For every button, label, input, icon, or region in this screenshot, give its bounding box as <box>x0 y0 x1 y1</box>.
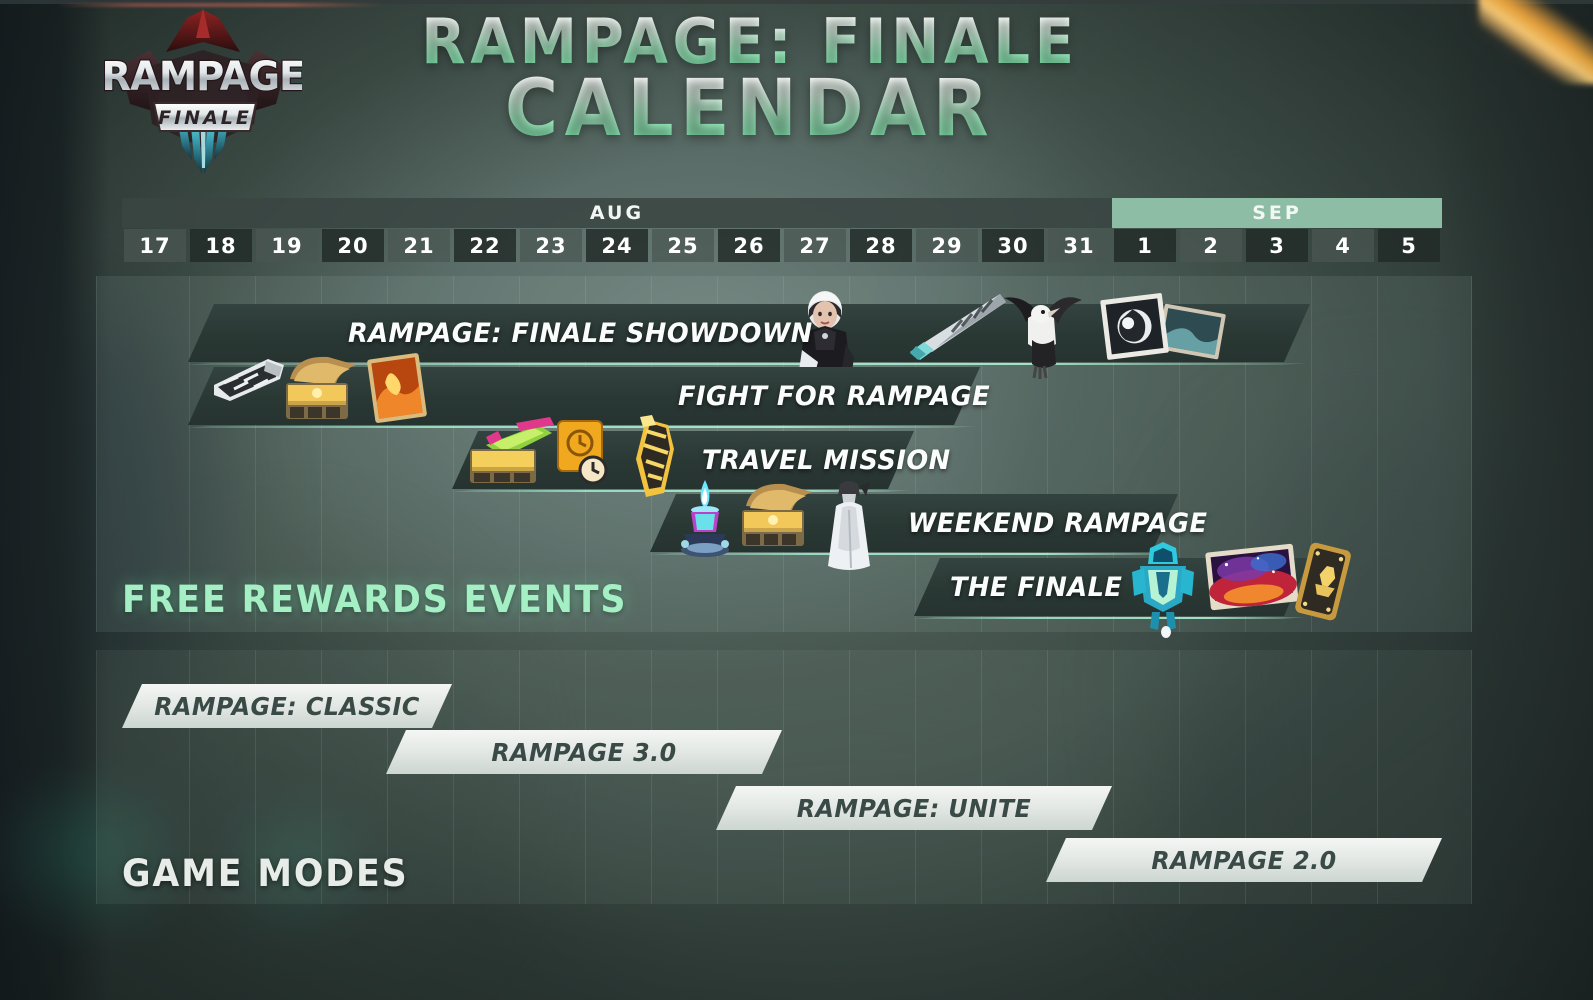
calendar-date-strip: AUGSEP 171819202122232425262728293031123… <box>122 198 1442 262</box>
game-mode-label: RAMPAGE 3.0 <box>396 730 772 774</box>
column-gridline <box>717 650 718 904</box>
green-gold-chest-icon <box>464 415 558 496</box>
event-bar-label: FIGHT FOR RAMPAGE <box>678 367 990 425</box>
svg-text:RAMPAGE: RAMPAGE <box>104 54 302 100</box>
day-cell[interactable]: 28 <box>850 229 912 262</box>
column-gridline <box>651 650 652 904</box>
top-red-accent-line <box>55 3 385 7</box>
month-header-row: AUGSEP <box>122 198 1442 228</box>
column-gridline <box>849 650 850 904</box>
column-gridline <box>915 650 916 904</box>
day-cell[interactable]: 17 <box>124 229 186 262</box>
blue-flame-pedestal-icon <box>672 478 738 565</box>
day-cell[interactable]: 30 <box>982 229 1044 262</box>
column-gridline <box>519 650 520 904</box>
day-cell[interactable]: 23 <box>520 229 582 262</box>
eagle-pet-icon <box>998 288 1084 385</box>
game-mode-label: RAMPAGE: CLASSIC <box>130 684 444 728</box>
day-cell[interactable]: 5 <box>1378 229 1440 262</box>
gold-emblem-plaque-icon <box>1294 542 1356 627</box>
column-gridline <box>585 650 586 904</box>
month-header-sep: SEP <box>1112 198 1442 228</box>
game-modes-label: GAME MODES <box>122 852 409 895</box>
day-cell[interactable]: 21 <box>388 229 450 262</box>
gold-ticket-clock-icon <box>552 415 614 492</box>
day-cell[interactable]: 1 <box>1114 229 1176 262</box>
day-cell[interactable]: 2 <box>1180 229 1242 262</box>
day-cell[interactable]: 31 <box>1048 229 1110 262</box>
event-bar[interactable]: WEEKEND RAMPAGE <box>650 494 1178 552</box>
column-gridline <box>1377 276 1378 632</box>
day-cell[interactable]: 27 <box>784 229 846 262</box>
corner-light-streak <box>1479 0 1593 84</box>
month-header-aug: AUG <box>122 198 1112 228</box>
day-cell[interactable]: 20 <box>322 229 384 262</box>
title-line-2: CALENDAR <box>359 72 1140 147</box>
game-mode-bar[interactable]: RAMPAGE: CLASSIC <box>122 684 452 728</box>
rampage-finale-logo: RAMPAGE FINALE <box>104 8 302 178</box>
page-title: RAMPAGE: FINALE CALENDAR <box>330 12 1170 146</box>
free-rewards-events-label: FREE REWARDS EVENTS <box>122 578 627 621</box>
event-bar-label: THE FINALE <box>950 558 1122 616</box>
day-cell[interactable]: 22 <box>454 229 516 262</box>
game-mode-bar[interactable]: RAMPAGE 3.0 <box>386 730 782 774</box>
game-mode-label: RAMPAGE 2.0 <box>1056 838 1432 882</box>
column-gridline <box>453 650 454 904</box>
column-gridline <box>783 650 784 904</box>
day-cell[interactable]: 18 <box>190 229 252 262</box>
machete-skin-icon <box>896 288 1008 367</box>
event-bar[interactable]: THE FINALE <box>914 558 1310 616</box>
white-cape-character-icon <box>820 478 878 579</box>
blue-crystal-mech-icon <box>1126 542 1200 643</box>
day-cell[interactable]: 24 <box>586 229 648 262</box>
day-number-row: 17181920212223242526272829303112345 <box>122 229 1442 262</box>
day-cell[interactable]: 4 <box>1312 229 1374 262</box>
day-cell[interactable]: 26 <box>718 229 780 262</box>
gold-treasure-chest-icon <box>734 478 822 561</box>
day-cell[interactable]: 25 <box>652 229 714 262</box>
game-mode-label: RAMPAGE: UNITE <box>726 786 1102 830</box>
nebula-loot-card-icon <box>1204 542 1300 619</box>
day-cell[interactable]: 3 <box>1246 229 1308 262</box>
column-gridline <box>981 650 982 904</box>
day-cell[interactable]: 19 <box>256 229 318 262</box>
loot-card-pair-icon <box>1098 288 1226 377</box>
day-cell[interactable]: 29 <box>916 229 978 262</box>
gold-treasure-chest-icon <box>278 351 366 434</box>
game-mode-bar[interactable]: RAMPAGE: UNITE <box>716 786 1112 830</box>
svg-text:FINALE: FINALE <box>158 107 252 129</box>
fire-loot-card-icon <box>366 351 428 430</box>
game-mode-bar[interactable]: RAMPAGE 2.0 <box>1046 838 1442 882</box>
